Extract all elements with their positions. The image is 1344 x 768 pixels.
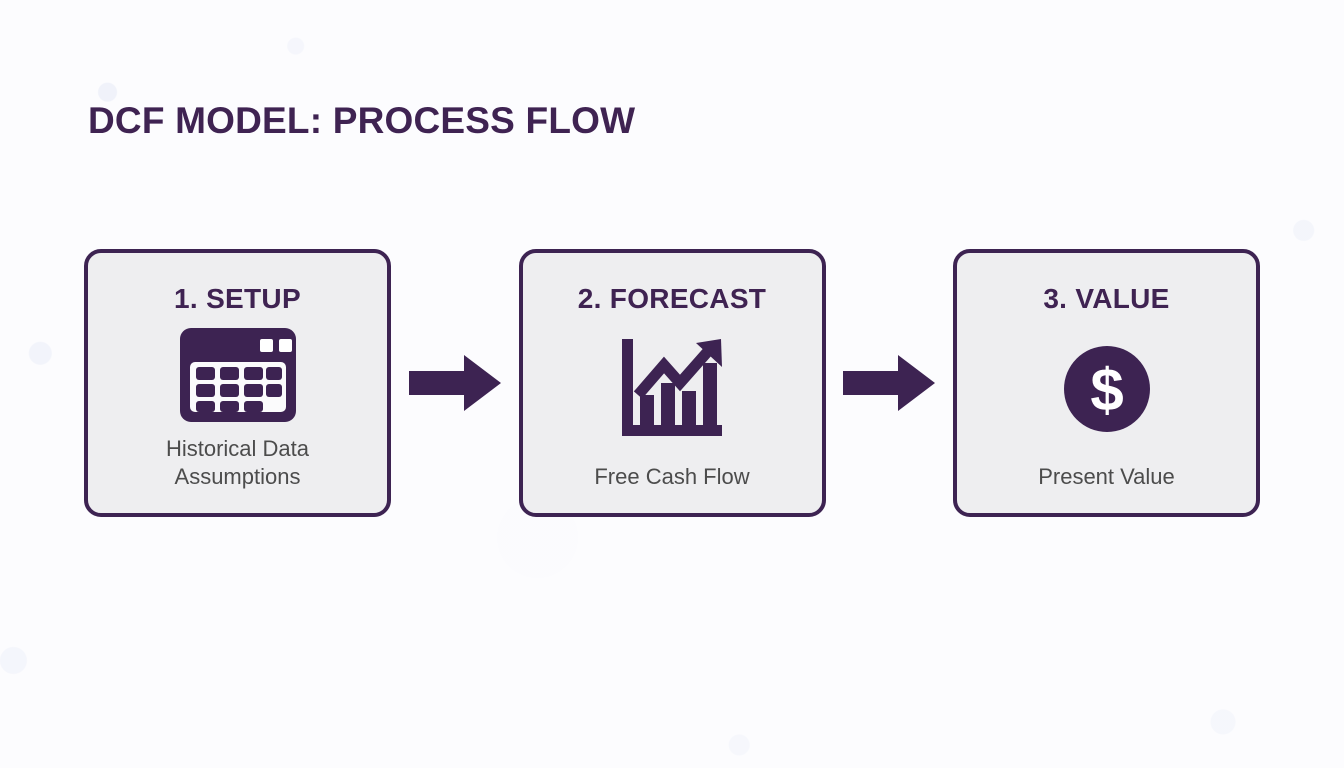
step-title: 1. SETUP: [174, 283, 301, 315]
spreadsheet-icon: [177, 325, 299, 425]
process-flow-diagram: 1. SETUP: [84, 249, 1260, 517]
connector-1: [391, 355, 519, 411]
step-card-setup[interactable]: 1. SETUP: [84, 249, 391, 517]
page-title: DCF MODEL: PROCESS FLOW: [88, 100, 635, 142]
step-icon-container: [523, 315, 822, 463]
step-caption: Present Value: [1028, 463, 1185, 513]
growth-chart-icon: [618, 337, 726, 441]
step-title: 2. FORECAST: [578, 283, 766, 315]
svg-text:$: $: [1090, 357, 1123, 424]
step-icon-container: $: [957, 315, 1256, 463]
step-card-value[interactable]: 3. VALUE $ Present Value: [953, 249, 1260, 517]
step-title: 3. VALUE: [1043, 283, 1169, 315]
step-caption: Historical Data Assumptions: [156, 435, 319, 513]
step-card-forecast[interactable]: 2. FORECAST Free Cash Flow: [519, 249, 826, 517]
arrow-right-icon: [409, 355, 501, 411]
arrow-right-icon: [843, 355, 935, 411]
step-caption: Free Cash Flow: [584, 463, 759, 513]
dollar-circle-icon: $: [1063, 345, 1151, 433]
step-icon-container: [88, 315, 387, 435]
connector-2: [826, 355, 954, 411]
